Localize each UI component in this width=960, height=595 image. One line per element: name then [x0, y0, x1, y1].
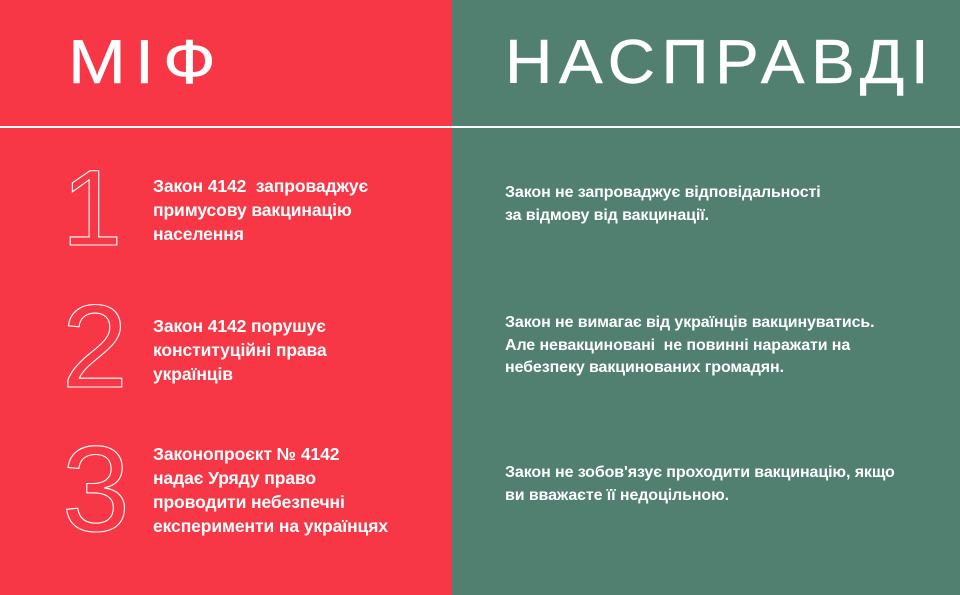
row-2-numeral: 2: [62, 288, 154, 406]
row-3-fact-line-1: Закон не зобов'язує проходити вакцинацію…: [505, 462, 925, 485]
row-2-fact-line-3: небезпеку вакцинованих громадян.: [505, 357, 925, 380]
row-1-myth-line-2: примусову вакцинацію: [153, 198, 438, 222]
row-2-myth-line-3: українців: [153, 362, 438, 386]
row-3-fact-line-2: ви вважаєте її недоцільною.: [505, 485, 925, 508]
row-2: 2 Закон 4142 порушує конституційні права…: [0, 280, 960, 420]
row-2-myth-line-2: конституційні права: [153, 338, 438, 362]
row-3-fact-text: Закон не зобов'язує проходити вакцинацію…: [505, 462, 925, 507]
row-1-myth-line-1: Закон 4142 запроваджує: [153, 174, 438, 198]
row-3-myth-line-2: надає Уряду право: [153, 466, 453, 490]
row-2-fact-text: Закон не вимагає від українців вакцинува…: [505, 312, 925, 380]
row-1-numeral: 1: [62, 154, 154, 262]
row-2-myth-line-1: Закон 4142 порушує: [153, 314, 438, 338]
rows-container: 1 Закон 4142 запроваджує примусову вакци…: [0, 128, 960, 595]
row-2-fact-line-2: Але невакциновані не повинні наражати на: [505, 335, 925, 358]
row-1-myth-line-3: населення: [153, 222, 438, 246]
row-3-myth-line-3: проводити небезпечні: [153, 490, 453, 514]
row-1-fact-line-2: за відмову від вакцинації.: [505, 205, 925, 228]
row-3-myth-text: Законопроєкт № 4142 надає Уряду право пр…: [153, 442, 453, 539]
row-1-fact-text: Закон не запроваджує відповідальності за…: [505, 182, 925, 227]
myth-column-heading: МІФ: [68, 32, 225, 94]
myth-vs-fact-infographic: МІФ НАСПРАВДІ 1 Закон 4142 запроваджує п…: [0, 0, 960, 595]
row-1-myth-text: Закон 4142 запроваджує примусову вакцина…: [153, 174, 438, 246]
row-3: 3 Законопроєкт № 4142 надає Уряду право …: [0, 420, 960, 560]
row-2-myth-text: Закон 4142 порушує конституційні права у…: [153, 314, 438, 386]
row-2-fact-line-1: Закон не вимагає від українців вакцинува…: [505, 312, 925, 335]
row-3-myth-line-1: Законопроєкт № 4142: [153, 442, 453, 466]
header: МІФ НАСПРАВДІ: [0, 0, 960, 128]
row-3-myth-line-4: експерименти на українцях: [153, 514, 453, 538]
row-1-fact-line-1: Закон не запроваджує відповідальності: [505, 182, 925, 205]
row-3-numeral: 3: [62, 428, 154, 550]
fact-column-heading: НАСПРАВДІ: [505, 32, 935, 94]
row-1: 1 Закон 4142 запроваджує примусову вакци…: [0, 140, 960, 280]
